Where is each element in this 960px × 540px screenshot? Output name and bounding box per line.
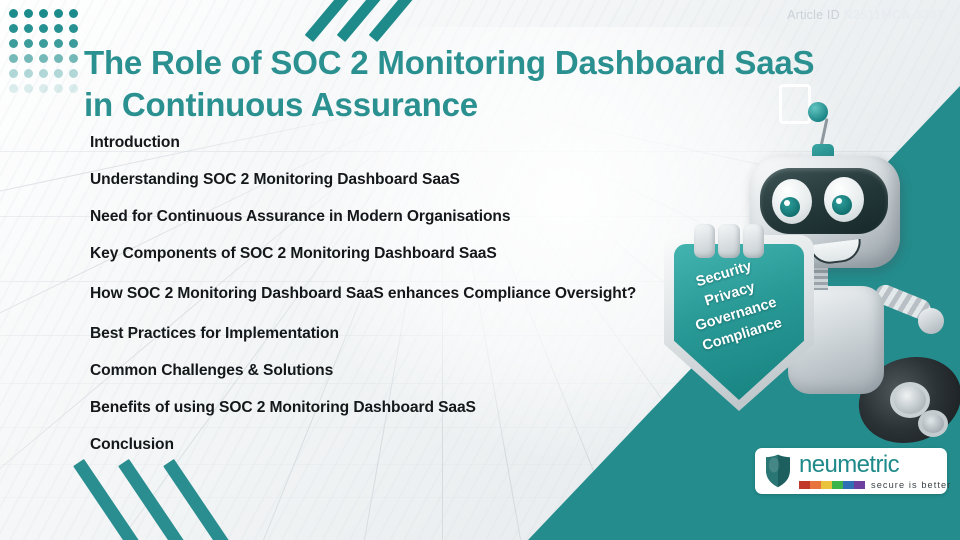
robot-mascot: Security Privacy Governance Compliance [718, 96, 960, 436]
robot-antenna-ball [808, 102, 828, 122]
robot-wheel-hub-secondary [918, 410, 948, 437]
list-item: Introduction [90, 135, 710, 151]
list-item: How SOC 2 Monitoring Dashboard SaaS enha… [90, 283, 710, 304]
article-id: Article ID N2511MCA-3347 [787, 8, 944, 22]
list-item: Need for Continuous Assurance in Modern … [90, 209, 710, 225]
list-item: Common Challenges & Solutions [90, 363, 710, 379]
list-item: Understanding SOC 2 Monitoring Dashboard… [90, 172, 710, 188]
dot-grid-decoration [6, 6, 81, 96]
page-title-line-2: in Continuous Assurance [84, 86, 478, 123]
neumetric-logo[interactable]: neumetric secure is better [755, 448, 947, 494]
logo-wordmark: neumetric [799, 453, 938, 477]
table-of-contents: Introduction Understanding SOC 2 Monitor… [90, 135, 710, 474]
robot-right-hand [918, 308, 944, 334]
list-item: Benefits of using SOC 2 Monitoring Dashb… [90, 400, 710, 416]
logo-color-bars [799, 481, 865, 489]
page-title-line-1: The Role of SOC 2 Monitoring Dashboard S… [84, 44, 814, 81]
list-item: Best Practices for Implementation [90, 326, 710, 342]
article-id-value: N2511MCA-3347 [844, 8, 944, 22]
list-item: Conclusion [90, 437, 710, 453]
logo-tagline: secure is better [871, 480, 951, 490]
slide-canvas: Article ID N2511MCA-3347 The Role of SOC… [0, 0, 960, 540]
robot-iris-right [832, 195, 852, 215]
robot-iris-left [780, 197, 800, 217]
shield-icon [764, 454, 792, 488]
robot-eye-glint-left [784, 200, 790, 206]
top-diagonal-stripes [322, 0, 452, 44]
robot-left-hand-fingers [694, 224, 764, 258]
article-id-label: Article ID [787, 8, 840, 22]
robot-eye-glint-right [836, 198, 842, 204]
list-item: Key Components of SOC 2 Monitoring Dashb… [90, 246, 710, 262]
